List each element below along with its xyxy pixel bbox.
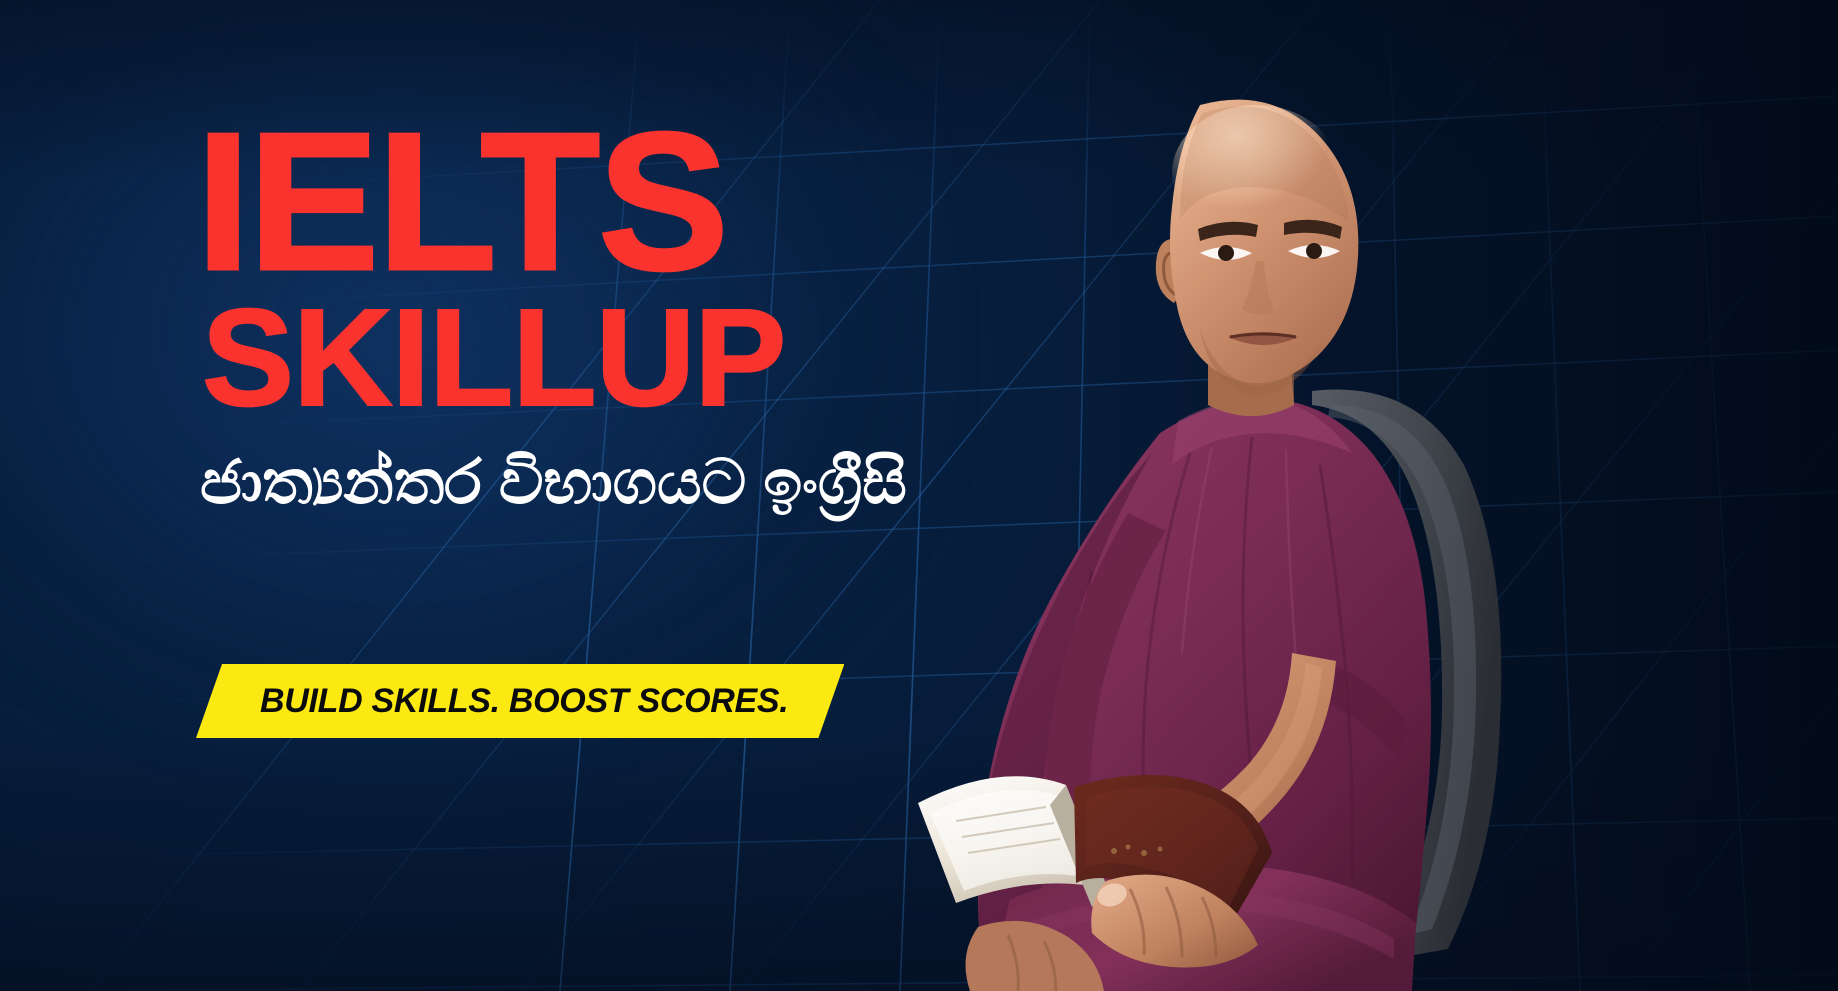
ielts-skillup-promo-banner: IELTS SKILLUP ජාත්‍යන්තර විභාගයට ඉංග්‍රී… — [0, 0, 1838, 991]
tagline-text: BUILD SKILLS. BOOST SCORES. — [260, 682, 788, 721]
page-title-ielts: IELTS — [196, 118, 1056, 287]
sinhala-subtitle: ජාත්‍යන්තර විභාගයට ඉංග්‍රීසි — [200, 448, 1056, 517]
page-title-skillup: SKILLUP — [202, 295, 1056, 422]
monk-head — [1156, 100, 1359, 397]
headline-block: IELTS SKILLUP ජාත්‍යන්තර විභාගයට ඉංග්‍රී… — [196, 118, 1056, 517]
tagline-badge-shape: BUILD SKILLS. BOOST SCORES. — [196, 664, 844, 738]
tagline-banner: BUILD SKILLS. BOOST SCORES. — [196, 664, 844, 738]
